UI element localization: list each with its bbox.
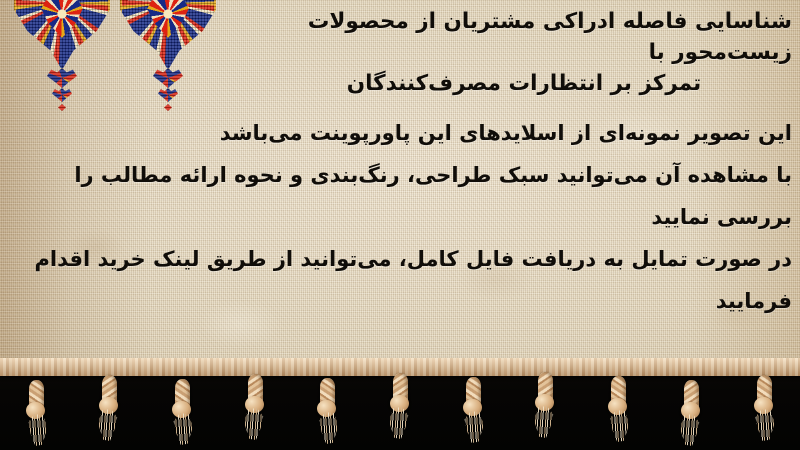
slide-title: شناسایی فاصله ادراکی مشتریان از محصولات … [238,6,792,99]
tassel-brush-icon [243,408,267,440]
tassel-brush-icon [606,410,630,442]
slide-title-line-2: تمرکز بر انتظارات مصرف‌کنندگان [238,68,792,99]
presentation-slide: شناسایی فاصله ادراکی مشتریان از محصولات … [0,0,800,450]
carpet-tassel [242,374,268,440]
carpet-tassel [96,375,122,441]
tassel-brush-icon [461,411,485,443]
carpet-tassel [751,375,777,441]
slide-body: این تصویر نمونه‌ای از اسلایدهای این پاور… [8,112,792,322]
slide-body-line-2: با مشاهده آن می‌توانید سبک طراحی، رنگ‌بن… [8,154,792,238]
tassel-brush-icon [170,413,194,445]
tassel-brush-icon [388,407,412,439]
tassel-brush-icon [315,412,339,444]
tassel-brush-icon [752,409,776,441]
slide-body-line-3: در صورت تمایل به دریافت فایل کامل، می‌تو… [8,238,792,322]
tassel-brush-icon [679,414,703,446]
carpet-tassel [532,372,558,438]
carpet-tassel [169,379,195,445]
slide-title-line-1: شناسایی فاصله ادراکی مشتریان از محصولات … [308,9,792,65]
carpet-tassel-fringe [0,370,800,450]
carpet-tassel [605,376,631,442]
carpet-tassel [23,380,49,446]
slide-body-line-1: این تصویر نمونه‌ای از اسلایدهای این پاور… [8,112,792,154]
carpet-tassel [460,377,486,443]
tassel-brush-icon [24,414,48,446]
tassel-brush-icon [97,409,121,441]
carpet-tassel [314,378,340,444]
carpet-tassel [678,380,704,446]
carpet-tassel [387,373,413,439]
tassel-brush-icon [533,406,557,438]
